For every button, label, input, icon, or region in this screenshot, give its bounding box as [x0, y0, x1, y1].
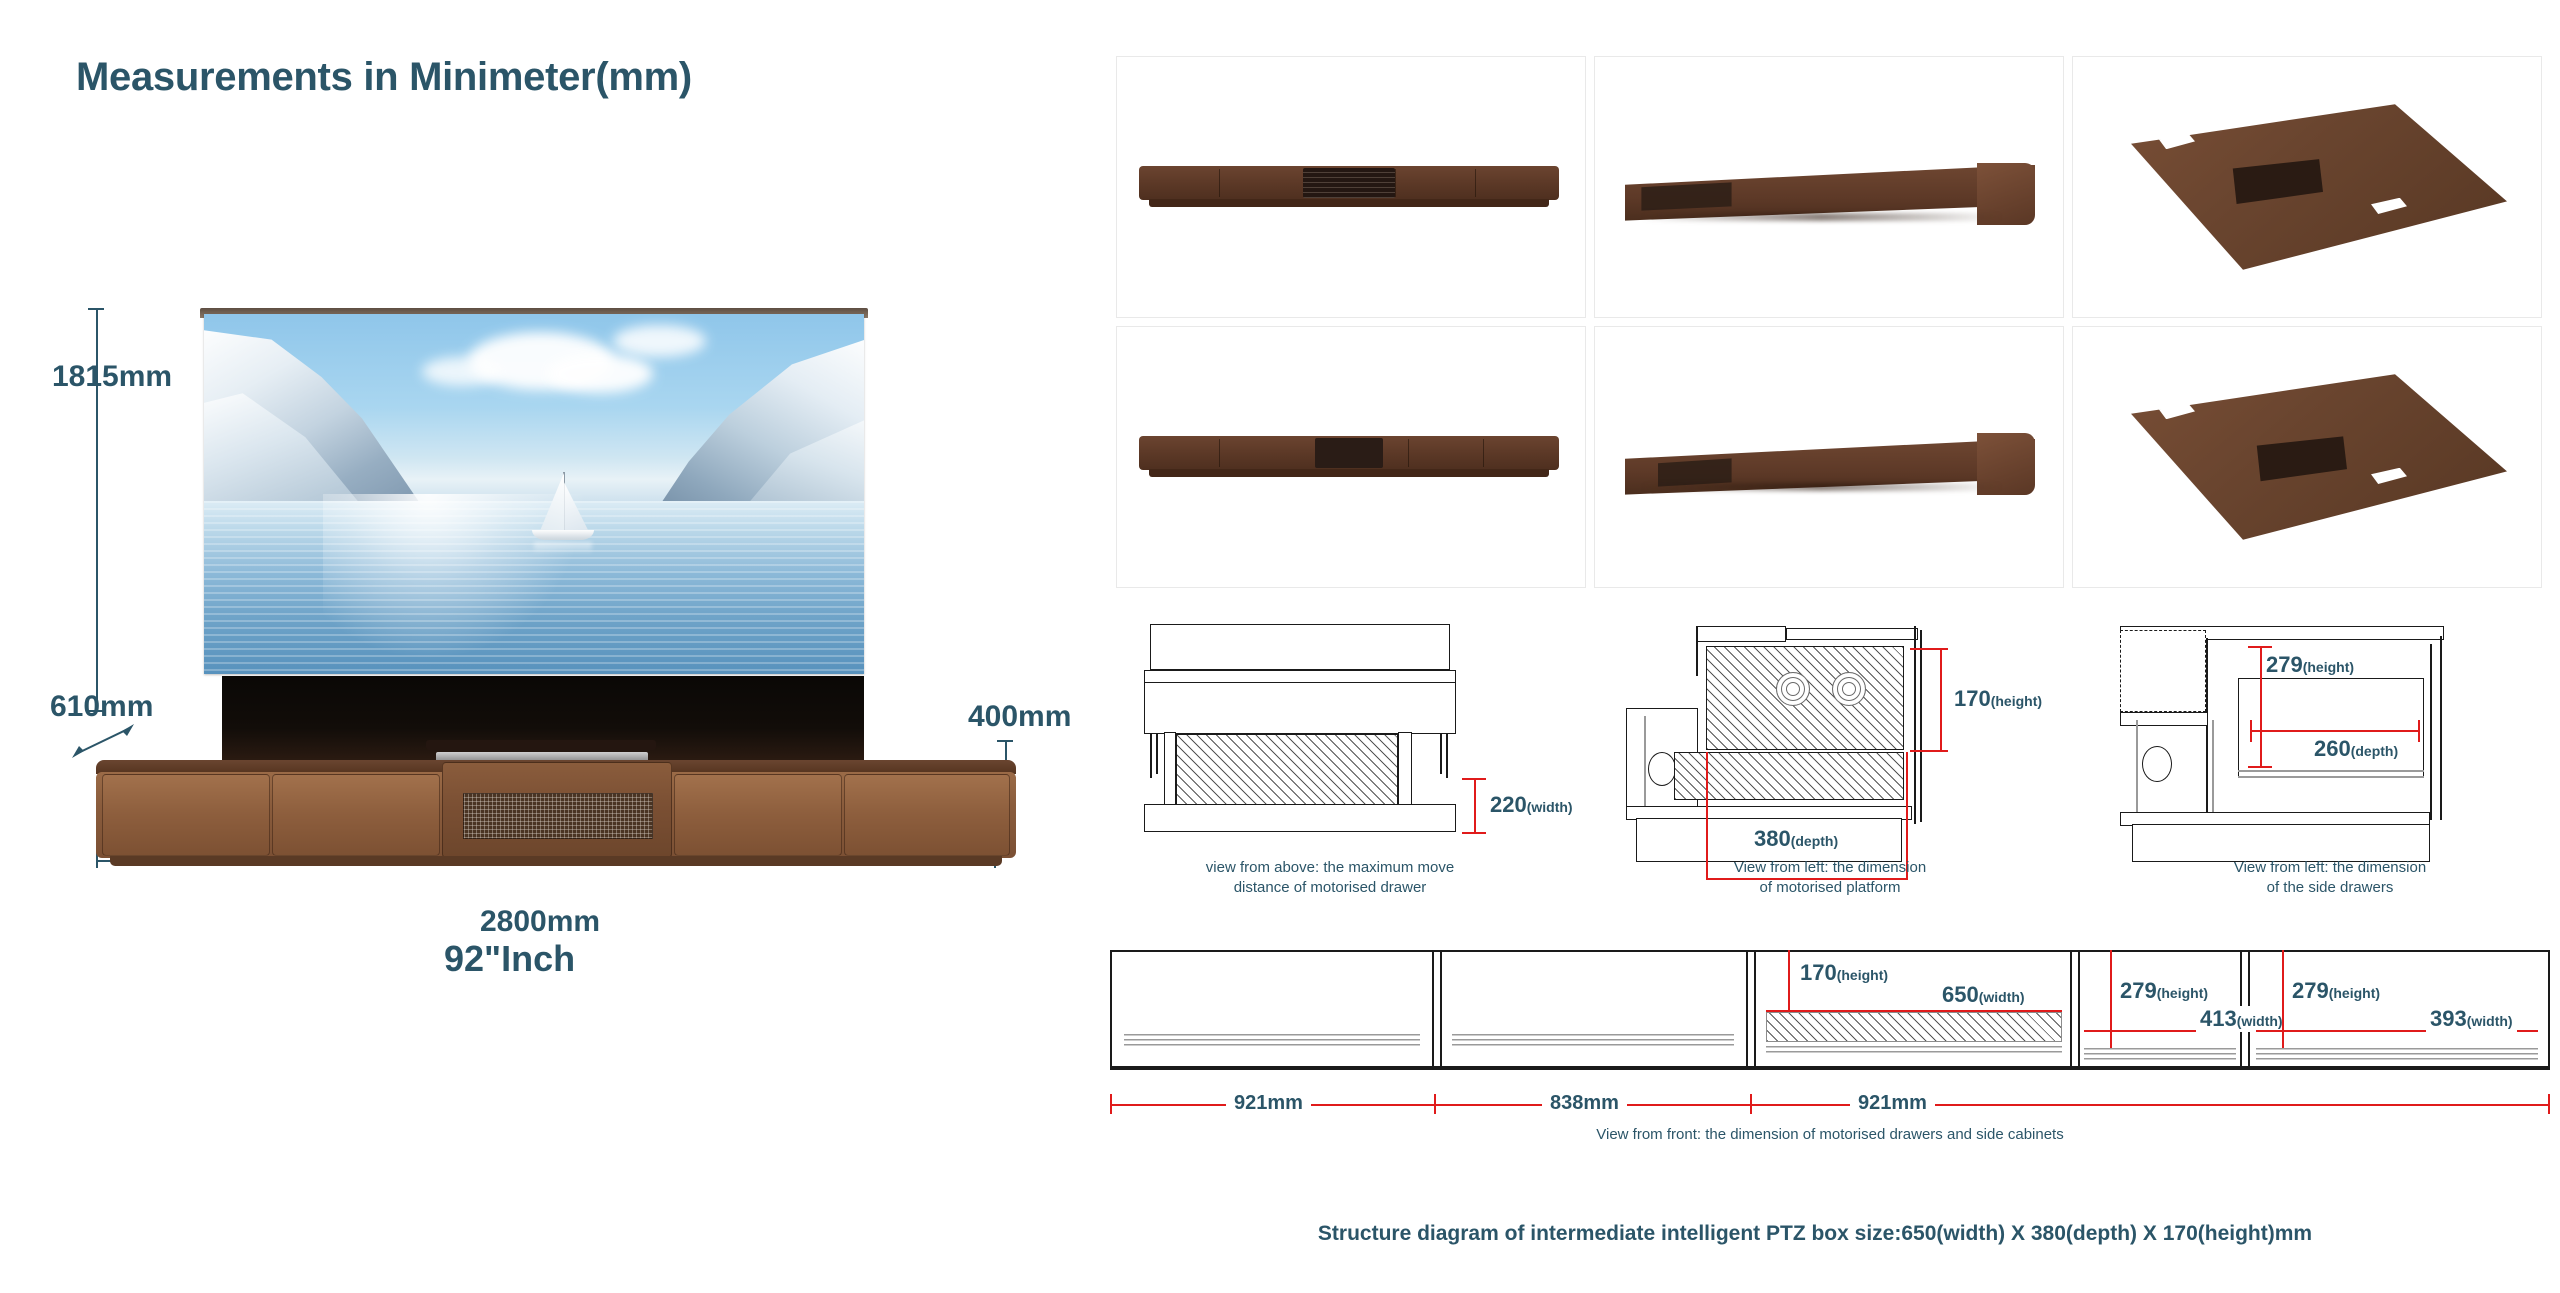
furniture-top-view — [2107, 97, 2507, 277]
section-divider — [1754, 950, 1756, 1068]
dimension-line-279 — [2110, 950, 2112, 1056]
cabinet-drawer-1 — [102, 774, 270, 856]
cad-view-motorised-platform: 170(height) 380(depth) View from left: t… — [1610, 620, 2050, 940]
platform-hatch-lower — [1674, 752, 1904, 800]
left-panel: Measurements in Minimeter(mm) 1815mm 610… — [0, 0, 1090, 1293]
dimension-line-170 — [1940, 648, 1942, 750]
dimension-label-260: 260(depth) — [2310, 736, 2402, 762]
shelf-rail — [2120, 712, 2208, 726]
dimension-label-170-front: 170(height) — [1800, 960, 1888, 986]
sail-rear — [564, 482, 588, 530]
fan-icon — [1776, 672, 1810, 706]
panel-seam — [1475, 169, 1476, 197]
cabinet-base — [1149, 469, 1549, 477]
sail-front — [540, 472, 564, 530]
furniture-front-elevation — [1139, 166, 1559, 208]
cabinet-drawer-4 — [844, 774, 1010, 856]
drawer-side — [1398, 732, 1412, 808]
shelf-lines — [1124, 1034, 1420, 1048]
dimension-line-260 — [2250, 730, 2420, 732]
dimension-label-220: 220(width) — [1490, 792, 1573, 818]
photo-front-view-open — [1116, 326, 1586, 588]
cad-view-from-above: 220(width) view from above: the maximum … — [1110, 620, 1550, 940]
hole-ellipse — [1648, 752, 1676, 786]
speaker-mesh — [463, 793, 653, 839]
top-cap — [1696, 626, 1786, 642]
drawer-hatch — [1176, 734, 1398, 806]
cabinet — [96, 760, 1016, 870]
section-divider — [1440, 950, 1442, 1068]
center-grille — [1315, 438, 1382, 468]
spec-sheet-page: Measurements in Minimeter(mm) 1815mm 610… — [0, 0, 2560, 1293]
furniture-front-elevation-open — [1139, 436, 1559, 478]
screen-image — [204, 314, 864, 674]
shelf-lines — [1766, 1046, 2062, 1056]
cabinet-drawer-3 — [674, 774, 842, 856]
panel-seam — [1219, 439, 1220, 467]
drawer-bottom — [2238, 770, 2424, 772]
top-rail — [1786, 628, 1918, 640]
dimension-label-380: 380(depth) — [1748, 826, 1844, 852]
cad-view-side-drawers: 279(height) 260(depth) View from left: t… — [2110, 620, 2550, 940]
cloud — [613, 325, 705, 357]
dimension-line-220 — [1474, 778, 1476, 834]
furniture-perspective-top — [1625, 143, 2035, 263]
guide-line — [2212, 720, 2214, 816]
section-divider — [1746, 950, 1748, 1068]
photo-perspective-top — [1594, 56, 2064, 318]
cabinet-center-box — [442, 762, 672, 858]
edge-line — [1440, 734, 1442, 774]
dimension-label-279-front-a: 279(height) — [2120, 978, 2208, 1004]
dimension-line-170 — [1788, 950, 1790, 1012]
segment-label-921-left: 921mm — [1226, 1092, 1311, 1115]
motorised-drawer-hatch — [1766, 1012, 2062, 1042]
edge-line — [1446, 734, 1448, 778]
photo-top-view-2 — [2072, 326, 2542, 588]
front-elevation-baseline — [1110, 1068, 2550, 1070]
dimension-tick — [2548, 1094, 2550, 1114]
product-photo-grid — [1116, 56, 2542, 588]
right-edge — [2430, 644, 2432, 820]
dimension-line-650 — [1766, 1010, 2062, 1012]
photo-top-view — [2072, 56, 2542, 318]
dimension-label-279: 279(height) — [2266, 652, 2354, 678]
guide-line — [2136, 720, 2138, 812]
right-edge — [1914, 626, 1916, 824]
hidden-outline — [2120, 630, 2206, 712]
photo-perspective-low — [1594, 326, 2064, 588]
shelf-lines — [1452, 1034, 1734, 1048]
dimension-label-279-front-b: 279(height) — [2292, 978, 2380, 1004]
page-title: Measurements in Minimeter(mm) — [76, 55, 692, 100]
product-render — [96, 300, 1016, 800]
dimension-lead-170 — [1910, 648, 1948, 650]
hull — [532, 530, 594, 540]
drawer-outline — [2238, 678, 2424, 778]
front-elevation-caption: View from front: the dimension of motori… — [1110, 1126, 2550, 1143]
section-divider — [2078, 950, 2080, 1068]
dimension-label-393: 393(width) — [2426, 1006, 2517, 1032]
segment-label-921-right: 921mm — [1850, 1092, 1935, 1115]
edge-line — [1150, 734, 1152, 778]
dimension-tick — [1462, 778, 1486, 780]
outline-upper — [1150, 624, 1450, 670]
center-grille — [1303, 168, 1395, 198]
dimension-tick — [2248, 646, 2272, 648]
panel-seam — [1395, 169, 1396, 197]
outline-lower — [1144, 804, 1456, 832]
dimension-label-413: 413(width) — [2196, 1006, 2287, 1032]
hole-ellipse — [2142, 746, 2172, 782]
section-divider — [2070, 950, 2072, 1068]
shelf-lines — [2084, 1048, 2236, 1062]
dimension-tick — [2248, 766, 2272, 768]
fan-icon — [1832, 672, 1866, 706]
cabinet-base — [1149, 199, 1549, 207]
right-edge-2 — [2440, 636, 2442, 820]
shadow-line — [1641, 213, 2002, 221]
outline-body — [1144, 682, 1456, 734]
section-divider — [1432, 950, 1434, 1068]
right-panel: 220(width) view from above: the maximum … — [1090, 0, 2560, 1293]
cabinet-width-label: 2800mm — [466, 905, 614, 939]
furniture-perspective-low — [1625, 413, 2035, 533]
dimension-tick — [2418, 720, 2420, 742]
dimension-chain: 921mm 838mm 921mm — [1110, 1090, 2550, 1130]
segment-label-838: 838mm — [1542, 1092, 1627, 1115]
screen-size-label: 92"Inch — [444, 938, 575, 980]
panel-seam — [1483, 439, 1484, 467]
panel-seam — [1219, 169, 1220, 197]
dimension-tick — [1110, 1094, 1112, 1114]
shadow-line — [1641, 483, 2002, 491]
cad-caption-platform: View from left: the dimension of motoris… — [1610, 858, 2050, 899]
dimension-line-279 — [2282, 950, 2284, 1056]
cabinet-drawer-2 — [272, 774, 440, 856]
sailboat — [514, 472, 604, 556]
panel-seam — [1408, 439, 1409, 467]
footer-spec-note: Structure diagram of intermediate intell… — [1090, 1222, 2540, 1246]
drawer-bottom-2 — [2238, 776, 2424, 778]
guide-line — [1644, 716, 1646, 812]
photo-front-view — [1116, 56, 1586, 318]
recess-lip — [426, 740, 656, 750]
lower-box — [2132, 824, 2430, 862]
dimension-lead-170 — [1910, 750, 1948, 752]
shelf-lines — [2256, 1048, 2538, 1062]
drawer-side — [1164, 732, 1176, 808]
boat-reflection — [534, 542, 592, 554]
dimension-label-650-front: 650(width) — [1938, 982, 2029, 1008]
cad-drawings-row: 220(width) view from above: the maximum … — [1110, 620, 2550, 940]
cad-caption-above: view from above: the maximum move distan… — [1110, 858, 1550, 899]
dimension-line-279 — [2260, 646, 2262, 768]
cabinet-plinth — [110, 856, 1002, 866]
projection-screen — [204, 314, 864, 674]
edge-line — [1156, 734, 1158, 774]
dimension-tick — [2250, 720, 2252, 742]
dimension-label-170: 170(height) — [1954, 686, 2042, 712]
front-elevation-strip: 170(height) 650(width) 279(height) 413(w… — [1110, 950, 2550, 1110]
edge-line — [1696, 626, 1698, 676]
right-edge-2 — [1920, 630, 1922, 822]
cloud — [547, 354, 653, 394]
divider-line — [2206, 638, 2208, 816]
cloud — [422, 357, 501, 386]
cad-caption-side-drawers: View from left: the dimension of the sid… — [2110, 858, 2550, 899]
dimension-tick — [1462, 832, 1486, 834]
furniture-top-view-2 — [2107, 367, 2507, 547]
